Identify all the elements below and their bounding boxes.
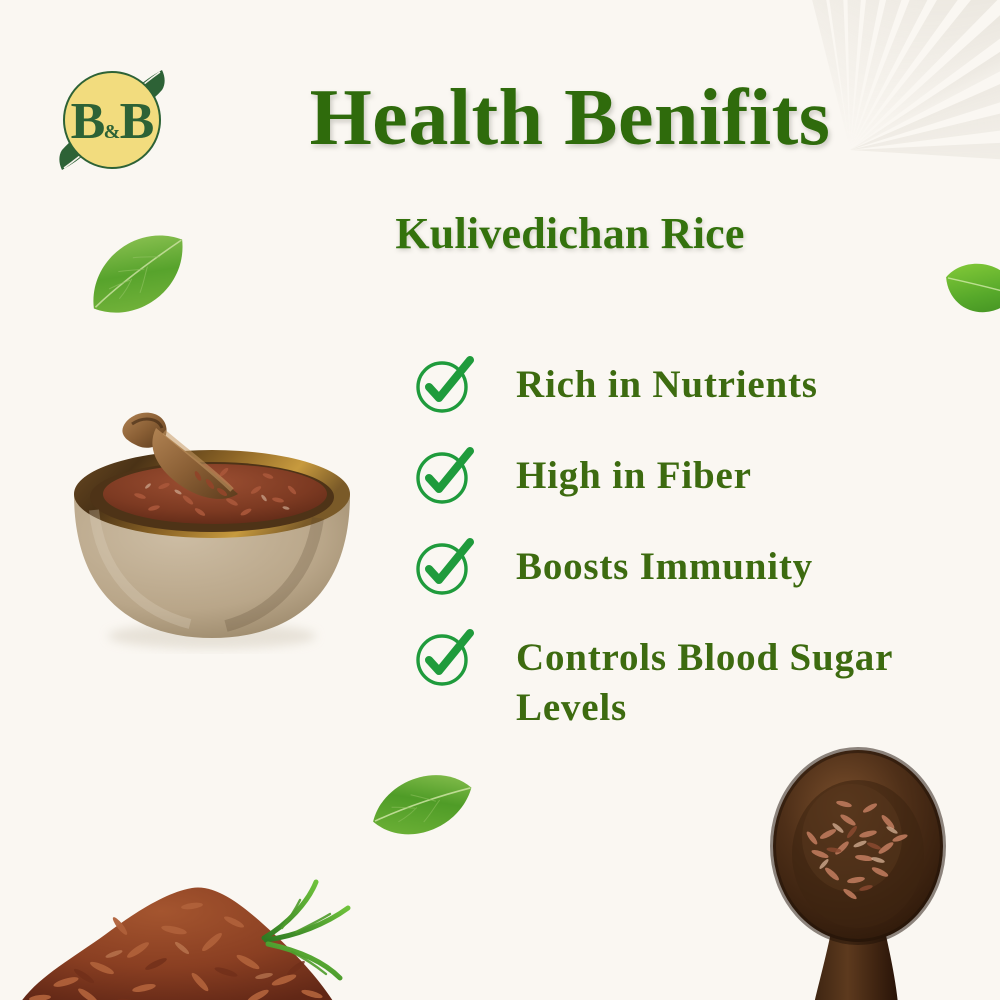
list-item-label: Rich in Nutrients [516, 352, 818, 410]
list-item: Boosts Immunity [412, 534, 972, 598]
page-title: Health Benifits [190, 78, 950, 158]
list-item: High in Fiber [412, 443, 972, 507]
check-circle-icon [412, 445, 474, 507]
b-and-b-logo: B & B [44, 52, 180, 188]
health-benefits-poster: B & B Health Benifits Kulivedichan Rice … [0, 0, 1000, 1000]
bowl-with-red-rice-photo [60, 398, 366, 654]
list-item: Controls Blood Sugar Levels [412, 625, 972, 733]
list-item: Rich in Nutrients [412, 352, 972, 416]
logo-letter-left: B [71, 93, 106, 150]
logo-letter-right: B [120, 93, 155, 150]
check-circle-icon [412, 627, 474, 689]
mint-leaf-icon [938, 246, 1000, 332]
page-subtitle: Kulivedichan Rice [190, 212, 950, 256]
red-rice-pile-photo [0, 856, 356, 1000]
list-item-label: Boosts Immunity [516, 534, 813, 592]
check-circle-icon [412, 536, 474, 598]
list-item-label: Controls Blood Sugar Levels [516, 625, 966, 733]
green-leaf-icon [362, 748, 480, 860]
wooden-spoon-with-rice-photo [756, 742, 1000, 1000]
check-circle-icon [412, 354, 474, 416]
list-item-label: High in Fiber [516, 443, 752, 501]
green-leaf-icon [72, 208, 204, 340]
logo-ampersand: & [104, 121, 121, 143]
benefit-list: Rich in Nutrients High in Fiber Boosts I… [412, 352, 972, 760]
